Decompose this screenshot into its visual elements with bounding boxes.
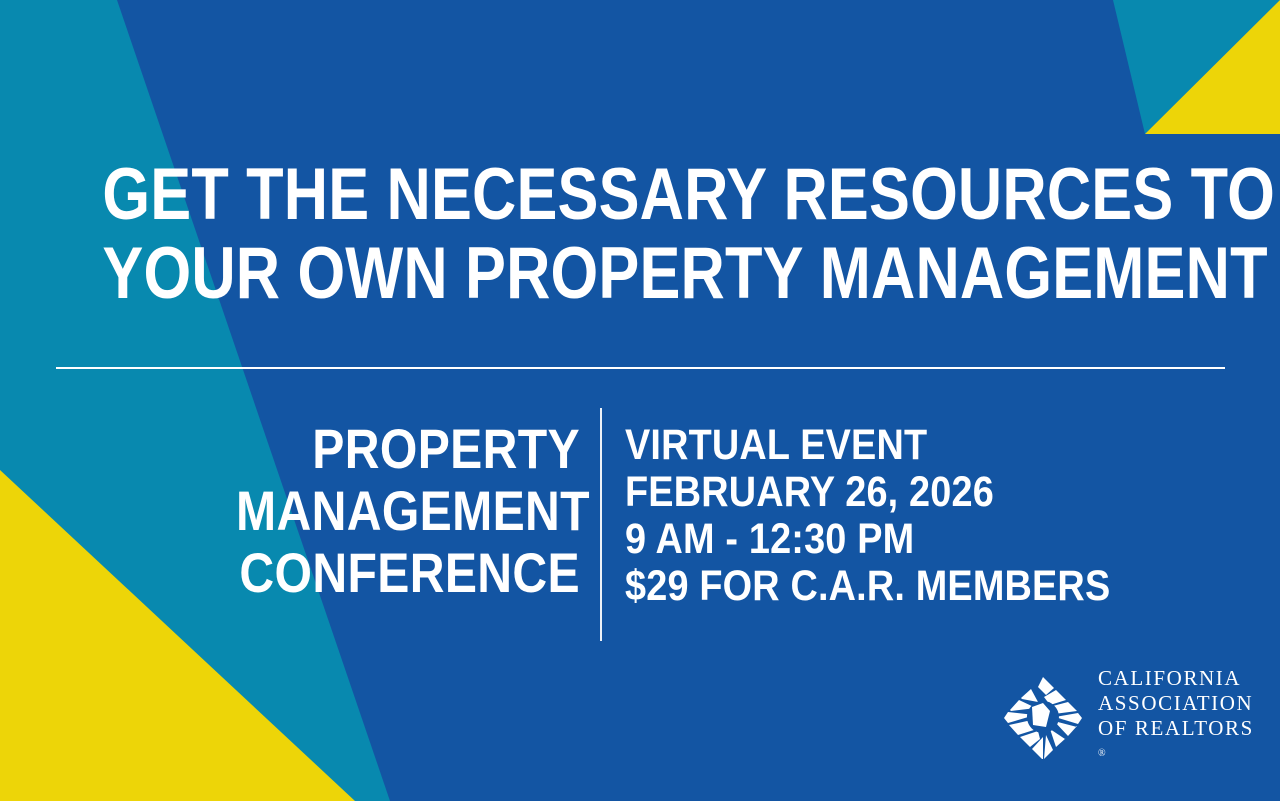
registered-trademark-icon: ® — [1098, 748, 1106, 759]
event-info-area: PROPERTY MANAGEMENT CONFERENCE VIRTUAL E… — [0, 404, 1280, 654]
headline-line-1: GET THE NECESSARY RESOURCES TO SUPPORT — [102, 155, 1177, 234]
vertical-divider — [600, 408, 602, 641]
headline: GET THE NECESSARY RESOURCES TO SUPPORT Y… — [0, 155, 1280, 313]
logo-line-association: ASSOCIATION — [1098, 691, 1254, 716]
logo-line-of-realtors: OF REALTORS® — [1098, 716, 1254, 770]
conference-title-line-3: CONFERENCE — [236, 542, 580, 604]
car-logo-mark-icon — [1002, 675, 1084, 761]
event-details: VIRTUAL EVENT FEBRUARY 26, 2026 9 AM - 1… — [625, 422, 1185, 610]
event-date: FEBRUARY 26, 2026 — [625, 469, 1118, 516]
logo-line-of-realtors-text: OF REALTORS — [1098, 716, 1254, 741]
event-promo-poster: GET THE NECESSARY RESOURCES TO SUPPORT Y… — [0, 0, 1280, 801]
conference-title: PROPERTY MANAGEMENT CONFERENCE — [180, 418, 580, 604]
conference-title-line-1: PROPERTY — [236, 418, 580, 480]
conference-title-line-2: MANAGEMENT — [236, 480, 580, 542]
event-time: 9 AM - 12:30 PM — [625, 516, 1118, 563]
car-logo-wordmark: CALIFORNIA ASSOCIATION OF REALTORS® — [1098, 666, 1254, 770]
event-format: VIRTUAL EVENT — [625, 422, 1118, 469]
event-price: $29 FOR C.A.R. MEMBERS — [625, 563, 1118, 610]
horizontal-divider — [56, 367, 1225, 369]
headline-line-2: YOUR OWN PROPERTY MANAGEMENT BUSINESS — [102, 234, 1177, 313]
car-logo: CALIFORNIA ASSOCIATION OF REALTORS® — [1002, 672, 1242, 764]
logo-line-california: CALIFORNIA — [1098, 666, 1254, 691]
